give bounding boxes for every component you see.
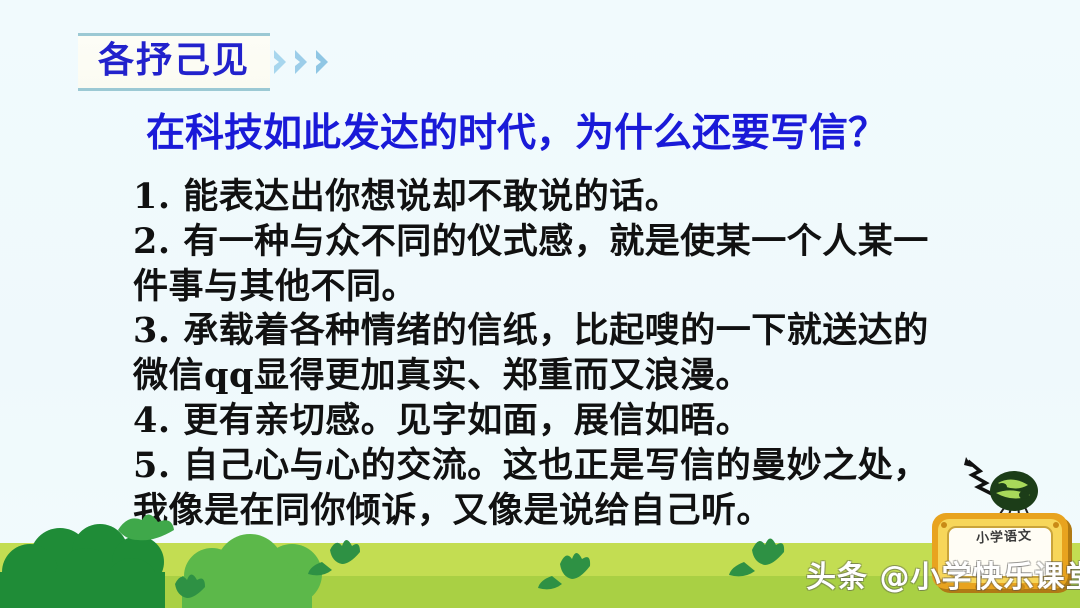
chevron-double-right-icon — [272, 47, 334, 77]
main-question-text: 在科技如此发达的时代，为什么还要写信？ — [146, 112, 936, 157]
answer-list: 1. 能表达出你想说却不敢说的话。 2. 有一种与众不同的仪式感，就是使某一个人… — [133, 175, 973, 533]
section-header-badge: 各抒己见 — [78, 33, 270, 91]
page-title: 各抒己见 — [98, 43, 250, 79]
answer-item: 2. 有一种与众不同的仪式感，就是使某一个人某一 件事与其他不同。 — [133, 220, 973, 310]
answer-item: 4. 更有亲切感。见字如面，展信如晤。 — [133, 399, 973, 444]
watermark-text: 头条 @小学快乐课堂 — [806, 552, 1080, 596]
slide-canvas: 各抒己见 在科技如此发达的时代，为什么还要写信？ 1. 能表达出你想说却不敢说的… — [0, 0, 1080, 608]
answer-item: 3. 承载着各种情绪的信纸，比起嗖的一下就送达的 微信qq显得更加真实、郑重而又… — [133, 309, 973, 399]
answer-item: 5. 自己心与心的交流。这也正是写信的曼妙之处， 我像是在同你倾诉，又像是说给自… — [133, 444, 973, 534]
answer-item: 1. 能表达出你想说却不敢说的话。 — [133, 175, 973, 220]
